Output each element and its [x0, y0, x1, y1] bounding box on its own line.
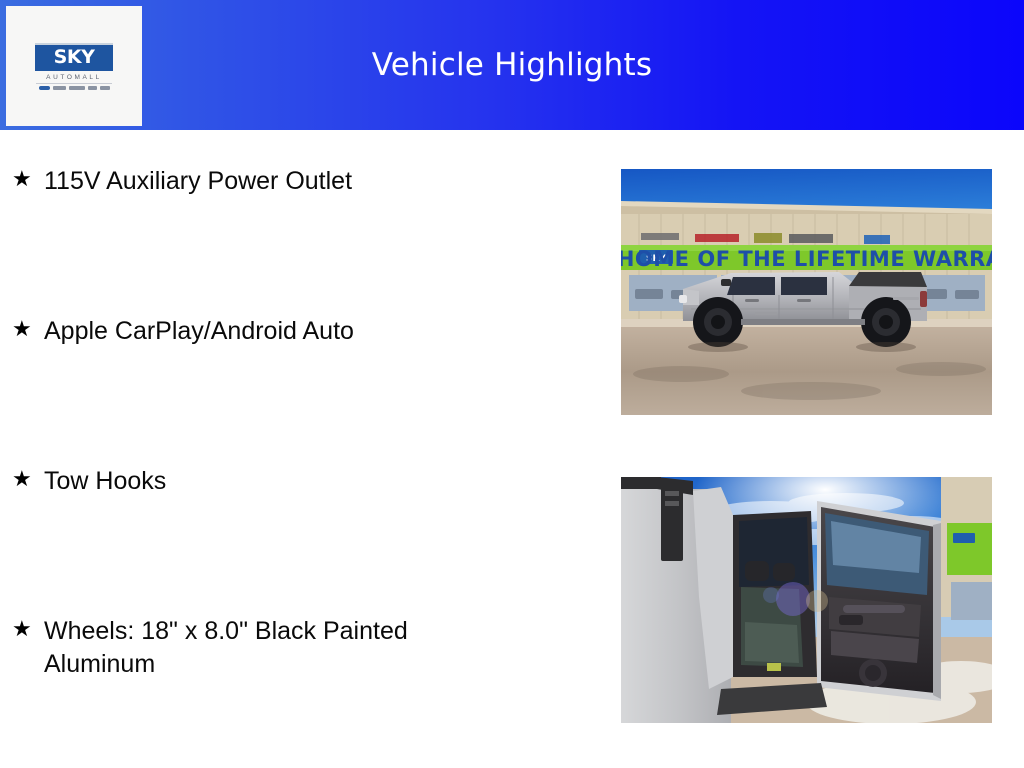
- logo-divider: [36, 83, 112, 84]
- highlight-label: Wheels: 18" x 8.0" Black Painted Aluminu…: [44, 615, 504, 681]
- logo-brand-name: SKY: [54, 48, 95, 67]
- ram-brand-icon: [69, 86, 85, 90]
- vehicle-highlights-list: ★ 115V Auxiliary Power Outlet ★ Apple Ca…: [12, 165, 572, 765]
- star-icon: ★: [12, 315, 44, 345]
- dodge-brand-icon: [53, 86, 66, 90]
- list-item: ★ Apple CarPlay/Android Auto: [12, 315, 572, 465]
- vehicle-interior-photo[interactable]: [621, 477, 992, 723]
- interior-photo-graphic: [621, 477, 992, 723]
- list-item: ★ Tow Hooks: [12, 465, 572, 615]
- sky-logo-badge: SKY: [35, 43, 113, 71]
- highlight-label: 115V Auxiliary Power Outlet: [44, 165, 352, 198]
- svg-text:HOME OF THE LIFETIME WARRANTY: HOME OF THE LIFETIME WARRANTY: [621, 247, 992, 271]
- star-icon: ★: [12, 465, 44, 495]
- manufacturer-brand-strip: [39, 86, 110, 90]
- fiat-brand-icon: [100, 86, 110, 90]
- vehicle-exterior-photo[interactable]: SKY HOME OF THE LIFETIME WARRANTY: [621, 169, 992, 415]
- star-icon: ★: [12, 615, 44, 645]
- page-title: Vehicle Highlights: [0, 0, 1024, 130]
- chrysler-brand-icon: [39, 86, 50, 90]
- jeep-brand-icon: [88, 86, 97, 90]
- logo-subtitle: AUTOMALL: [46, 74, 102, 81]
- highlight-label: Tow Hooks: [44, 465, 166, 498]
- star-icon: ★: [12, 165, 44, 195]
- page-header: Vehicle Highlights: [0, 0, 1024, 130]
- logo-inner: SKY AUTOMALL: [28, 43, 120, 90]
- list-item: ★ Wheels: 18" x 8.0" Black Painted Alumi…: [12, 615, 572, 765]
- list-item: ★ 115V Auxiliary Power Outlet: [12, 165, 572, 315]
- dealership-logo[interactable]: SKY AUTOMALL: [6, 6, 142, 126]
- exterior-photo-graphic: SKY HOME OF THE LIFETIME WARRANTY: [621, 169, 992, 415]
- highlight-label: Apple CarPlay/Android Auto: [44, 315, 354, 348]
